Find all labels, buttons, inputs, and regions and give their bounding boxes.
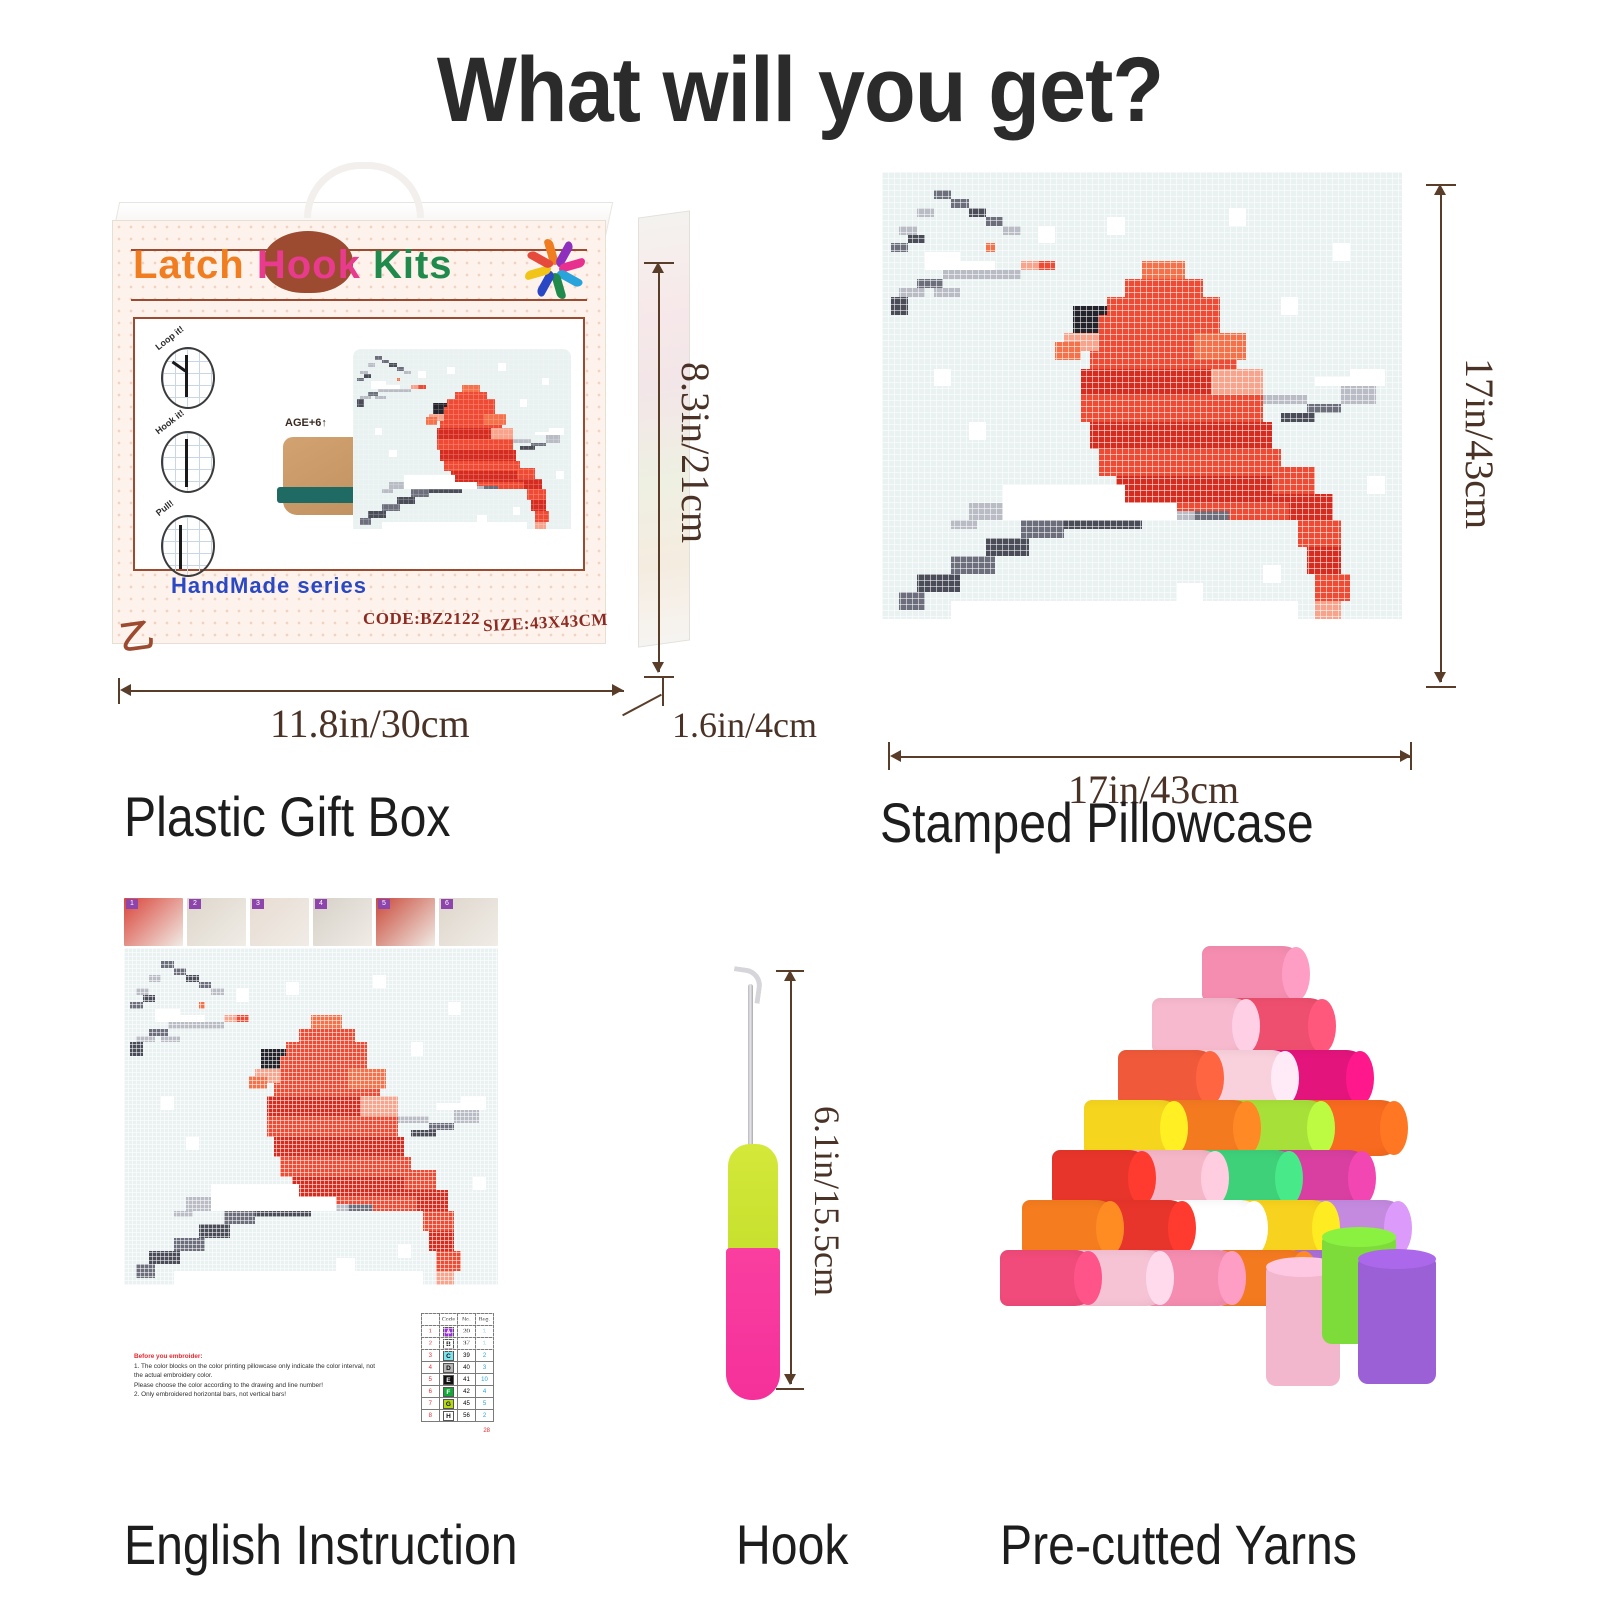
yarn-bundle	[1202, 946, 1308, 1002]
table-cell-code: G	[439, 1398, 457, 1410]
pillowcase-height-tick-bottom	[1426, 686, 1456, 688]
table-cell-number: 41	[458, 1374, 476, 1386]
color-swatch: G	[443, 1399, 454, 1409]
table-row: 6F424	[421, 1386, 493, 1398]
step-thumbnail-badge: 5	[378, 899, 390, 909]
gift-box-width-arrow-right	[612, 684, 623, 696]
pillowcase-width-axis	[896, 756, 1412, 758]
table-cell-number: 42	[458, 1386, 476, 1398]
stamped-pillowcase-image	[882, 172, 1402, 708]
infographic-page: What will you get? Latch Hook Kits	[0, 0, 1600, 1600]
step-thumbnail-strip: 123456	[124, 898, 498, 946]
step-thumbnail-badge: 4	[315, 899, 327, 909]
gift-box-handle	[304, 162, 424, 218]
table-cell-bag: 5	[476, 1398, 494, 1410]
product-code: CODE:BZ2122	[363, 609, 480, 629]
instruction-note-line-1: 1. The color blocks on the color printin…	[134, 1362, 384, 1381]
brand-word-kits: Kits	[373, 243, 453, 287]
hook-length-tick-bottom	[776, 1388, 804, 1390]
table-cell-bag: 3	[476, 1362, 494, 1374]
step-label-pull: Pull!	[154, 498, 176, 518]
step-thumbnail: 6	[439, 898, 498, 946]
gift-box-width-tick-left	[118, 678, 120, 704]
page-title: What will you get?	[64, 38, 1536, 143]
step-thumbnail: 2	[187, 898, 246, 946]
step-thumbnail: 3	[250, 898, 309, 946]
gift-box-height-tick-bottom	[644, 676, 674, 678]
pillowcase-height-arrow-bottom	[1434, 672, 1446, 683]
step-thumbnail-badge: 3	[252, 899, 264, 909]
gift-box-depth-tick	[662, 676, 664, 706]
pillowcase-height-tick-top	[1426, 184, 1456, 186]
pillowcase-width-tick-left	[888, 742, 890, 770]
divider-bottom	[131, 299, 587, 301]
series-label: HandMade series	[171, 573, 367, 599]
yarn-bundle	[1052, 1150, 1154, 1206]
color-swatch: E	[443, 1375, 454, 1385]
gift-box-width-axis	[126, 690, 624, 692]
table-row: 5E4110	[421, 1374, 493, 1386]
step-thumbnail: 1	[124, 898, 183, 946]
instruction-note-line-3: 2. Only embroidered horizontal bars, not…	[134, 1390, 384, 1400]
brand-word-hook: Hook	[257, 243, 361, 287]
step-thumbnail: 4	[313, 898, 372, 946]
instruction-notes: Before you embroider: 1. The color block…	[134, 1352, 384, 1400]
table-cell-number: 56	[458, 1410, 476, 1422]
gift-box-depth-axis	[622, 694, 662, 716]
table-cell-bag: 10	[476, 1374, 494, 1386]
pre-cut-yarn-image	[966, 936, 1466, 1432]
instruction-notes-heading: Before you embroider:	[134, 1352, 384, 1362]
hook-length-tick-top	[776, 970, 804, 972]
hook-length-label: 6.1in/15.5cm	[806, 1106, 848, 1296]
gift-box-image: Latch Hook Kits Loop it! Hook it!	[112, 196, 642, 666]
table-cell-index: 5	[421, 1374, 439, 1386]
table-row: 4D403	[421, 1362, 493, 1374]
table-cell-index: 7	[421, 1398, 439, 1410]
yarn-bundle-standing	[1358, 1258, 1436, 1384]
gift-box-depth-label: 1.6in/4cm	[672, 704, 817, 746]
instruction-pattern-chart	[124, 948, 498, 1352]
gift-box-front: Latch Hook Kits Loop it! Hook it!	[112, 220, 606, 644]
step-thumbnail: 5	[376, 898, 435, 946]
color-swatch: H	[443, 1411, 454, 1421]
caption-yarns: Pre-cutted Yarns	[1000, 1512, 1357, 1577]
gift-box-width-label: 11.8in/30cm	[270, 700, 470, 747]
table-cell-number: 40	[458, 1362, 476, 1374]
yarn-bundle	[1152, 998, 1258, 1054]
table-cell-code: D	[439, 1362, 457, 1374]
ribbon-icon: 乙	[116, 607, 156, 653]
finished-pillow-preview	[353, 349, 571, 565]
brand-title: Latch Hook Kits	[133, 243, 533, 288]
step-circle-pull	[161, 515, 215, 577]
pillowcase-height-label: 17in/43cm	[1456, 358, 1503, 529]
hook-length-axis	[790, 976, 792, 1384]
color-swatch: D	[443, 1363, 454, 1373]
gift-box-inner-panel: Loop it! Hook it! Pull! AGE+6↑	[133, 317, 585, 571]
table-cell-bag: 2	[476, 1410, 494, 1422]
yarn-bundle	[1022, 1200, 1122, 1256]
hook-metal-tip	[730, 966, 764, 1004]
pinwheel-logo	[523, 237, 587, 301]
brand-word-latch: Latch	[133, 243, 245, 287]
table-cell-index: 6	[421, 1386, 439, 1398]
gift-box-height-label: 8.3in/21cm	[672, 362, 719, 543]
gift-box-height-axis	[658, 268, 660, 672]
gift-box-width-arrow-left	[120, 684, 131, 696]
hook-length-arrow-bottom	[784, 1374, 796, 1385]
caption-pillowcase: Stamped Pillowcase	[880, 790, 1314, 855]
step-thumbnail-badge: 2	[189, 899, 201, 909]
table-cell-bag: 4	[476, 1386, 494, 1398]
hook-lower-handle	[726, 1248, 780, 1400]
step-circle-loop	[161, 347, 215, 409]
color-swatch: C	[443, 1351, 454, 1361]
pillowcase-width-arrow-left	[890, 750, 901, 762]
yarn-bundle	[1118, 1050, 1222, 1106]
english-instruction-image: 123456 Before you embroider: 1. The colo…	[124, 898, 498, 1446]
table-cell-code: E	[439, 1374, 457, 1386]
instruction-note-line-2: Please choose the color according to the…	[134, 1381, 384, 1391]
age-label: AGE+6↑	[285, 417, 327, 429]
hook-upper-handle	[728, 1144, 778, 1252]
color-swatch: F	[443, 1387, 454, 1397]
gift-box-height-arrow-bottom	[652, 662, 664, 673]
table-cell-code: H	[439, 1410, 457, 1422]
gift-box-height-tick-top	[644, 262, 674, 264]
caption-gift-box: Plastic Gift Box	[124, 784, 451, 849]
table-cell-number: 45	[458, 1398, 476, 1410]
step-circle-hook	[161, 431, 215, 493]
table-cell-index: 8	[421, 1410, 439, 1422]
table-row: 8H562	[421, 1410, 493, 1422]
yarn-bundle	[1000, 1250, 1100, 1306]
yarn-bundle	[1084, 1100, 1186, 1156]
table-cell-index: 4	[421, 1362, 439, 1374]
step-thumbnail-badge: 1	[126, 899, 138, 909]
pillowcase-width-tick-right	[1410, 742, 1412, 770]
pillowcase-height-axis	[1440, 190, 1442, 682]
color-table-total: 28	[483, 1428, 490, 1434]
caption-instruction: English Instruction	[124, 1512, 518, 1577]
table-row: 7G455	[421, 1398, 493, 1410]
step-thumbnail-badge: 6	[441, 899, 453, 909]
table-cell-code: F	[439, 1386, 457, 1398]
caption-hook: Hook	[736, 1512, 848, 1577]
